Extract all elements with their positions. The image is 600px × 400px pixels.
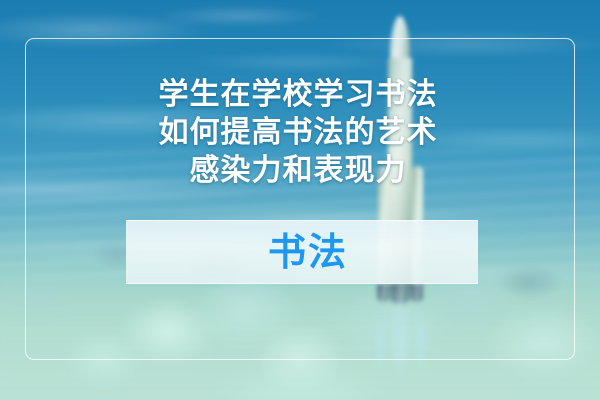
keyword-label: 书法	[268, 233, 348, 271]
sky-background	[0, 0, 600, 400]
headline-block: 学生在学校学习书法 如何提高书法的艺术 感染力和表现力	[148, 76, 448, 190]
photo-blur	[0, 0, 600, 400]
rocket-nose-cone	[390, 16, 410, 62]
high-clouds	[0, 0, 600, 400]
headline-line-1: 学生在学校学习书法	[148, 76, 448, 114]
rocket-nozzle-left	[377, 284, 390, 302]
rocket-exhaust-plume	[366, 300, 434, 400]
headline-line-3: 感染力和表现力	[148, 152, 448, 190]
headline-line-2: 如何提高书法的艺术	[148, 114, 448, 152]
banner-image: 学生在学校学习书法 如何提高书法的艺术 感染力和表现力 书法	[0, 0, 600, 400]
rocket-nozzle-right	[410, 284, 423, 302]
keyword-plate: 书法	[126, 220, 478, 284]
rocket-nozzle-center	[391, 284, 409, 304]
color-tint	[0, 0, 600, 400]
